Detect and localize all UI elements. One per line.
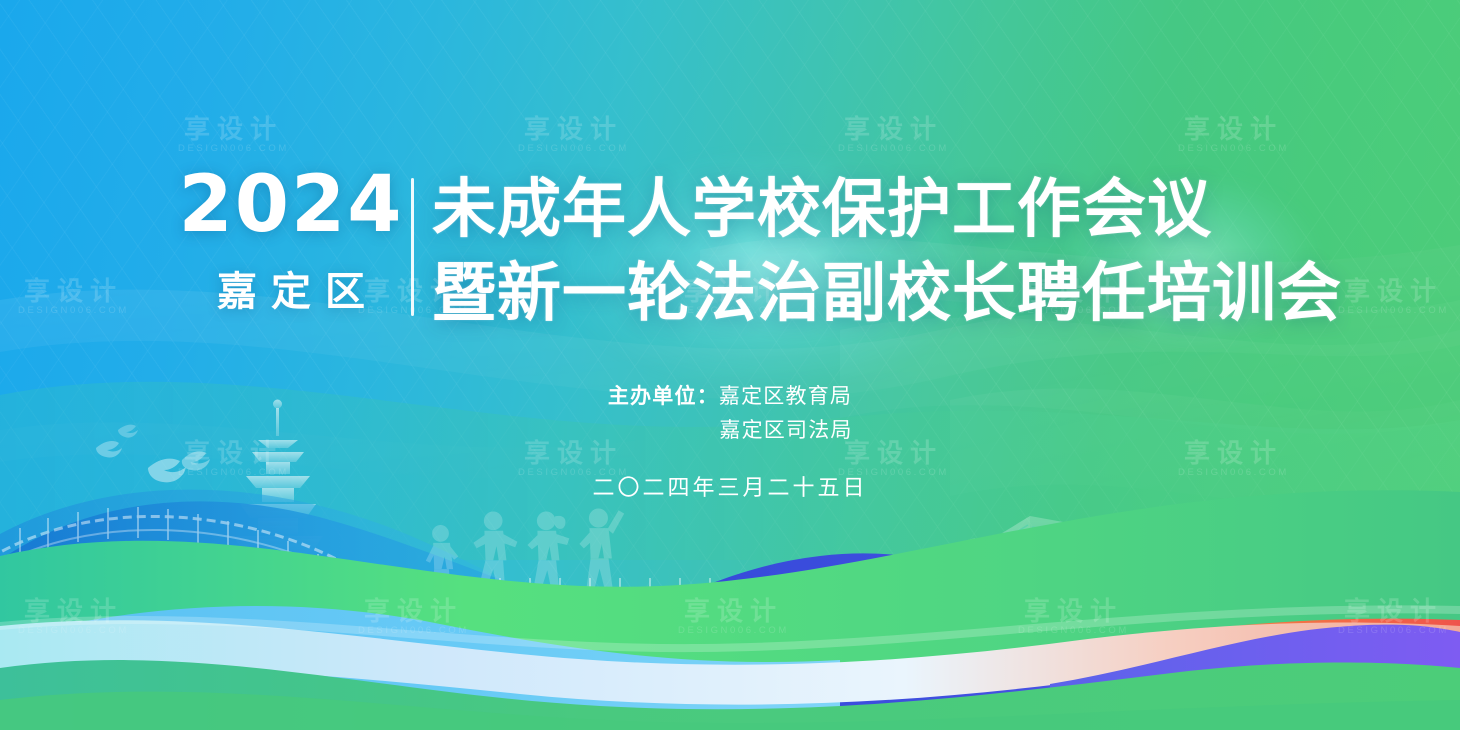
poster-canvas: 享设计DESIGN006.COM享设计DESIGN006.COM享设计DESIG… (0, 0, 1460, 730)
organizer-name-1: 嘉定区教育局 (719, 385, 852, 408)
organizer-label: 主办单位： (608, 385, 719, 408)
title-line-2: 暨新一轮法治副校长聘任培训会 (432, 252, 1342, 336)
district-text: 嘉定区 (176, 259, 406, 317)
event-date: 二〇二四年三月二十五日 (0, 470, 1460, 502)
main-title-block: 未成年人学校保护工作会议 暨新一轮法治副校长聘任培训会 (432, 168, 1342, 337)
title-line-1: 未成年人学校保护工作会议 (432, 168, 1342, 252)
organizer-row-1: 主办单位：嘉定区教育局 (0, 380, 1460, 414)
vertical-divider (411, 178, 414, 316)
organizer-block: 主办单位：嘉定区教育局 嘉定区司法局 (0, 380, 1460, 447)
organizer-row-2: 嘉定区司法局 (0, 414, 1460, 448)
year-text: 2024 (176, 168, 406, 243)
poster-content: 2024 嘉定区 未成年人学校保护工作会议 暨新一轮法治副校长聘任培训会 主办单… (0, 0, 1460, 730)
year-district-block: 2024 嘉定区 (176, 168, 406, 317)
